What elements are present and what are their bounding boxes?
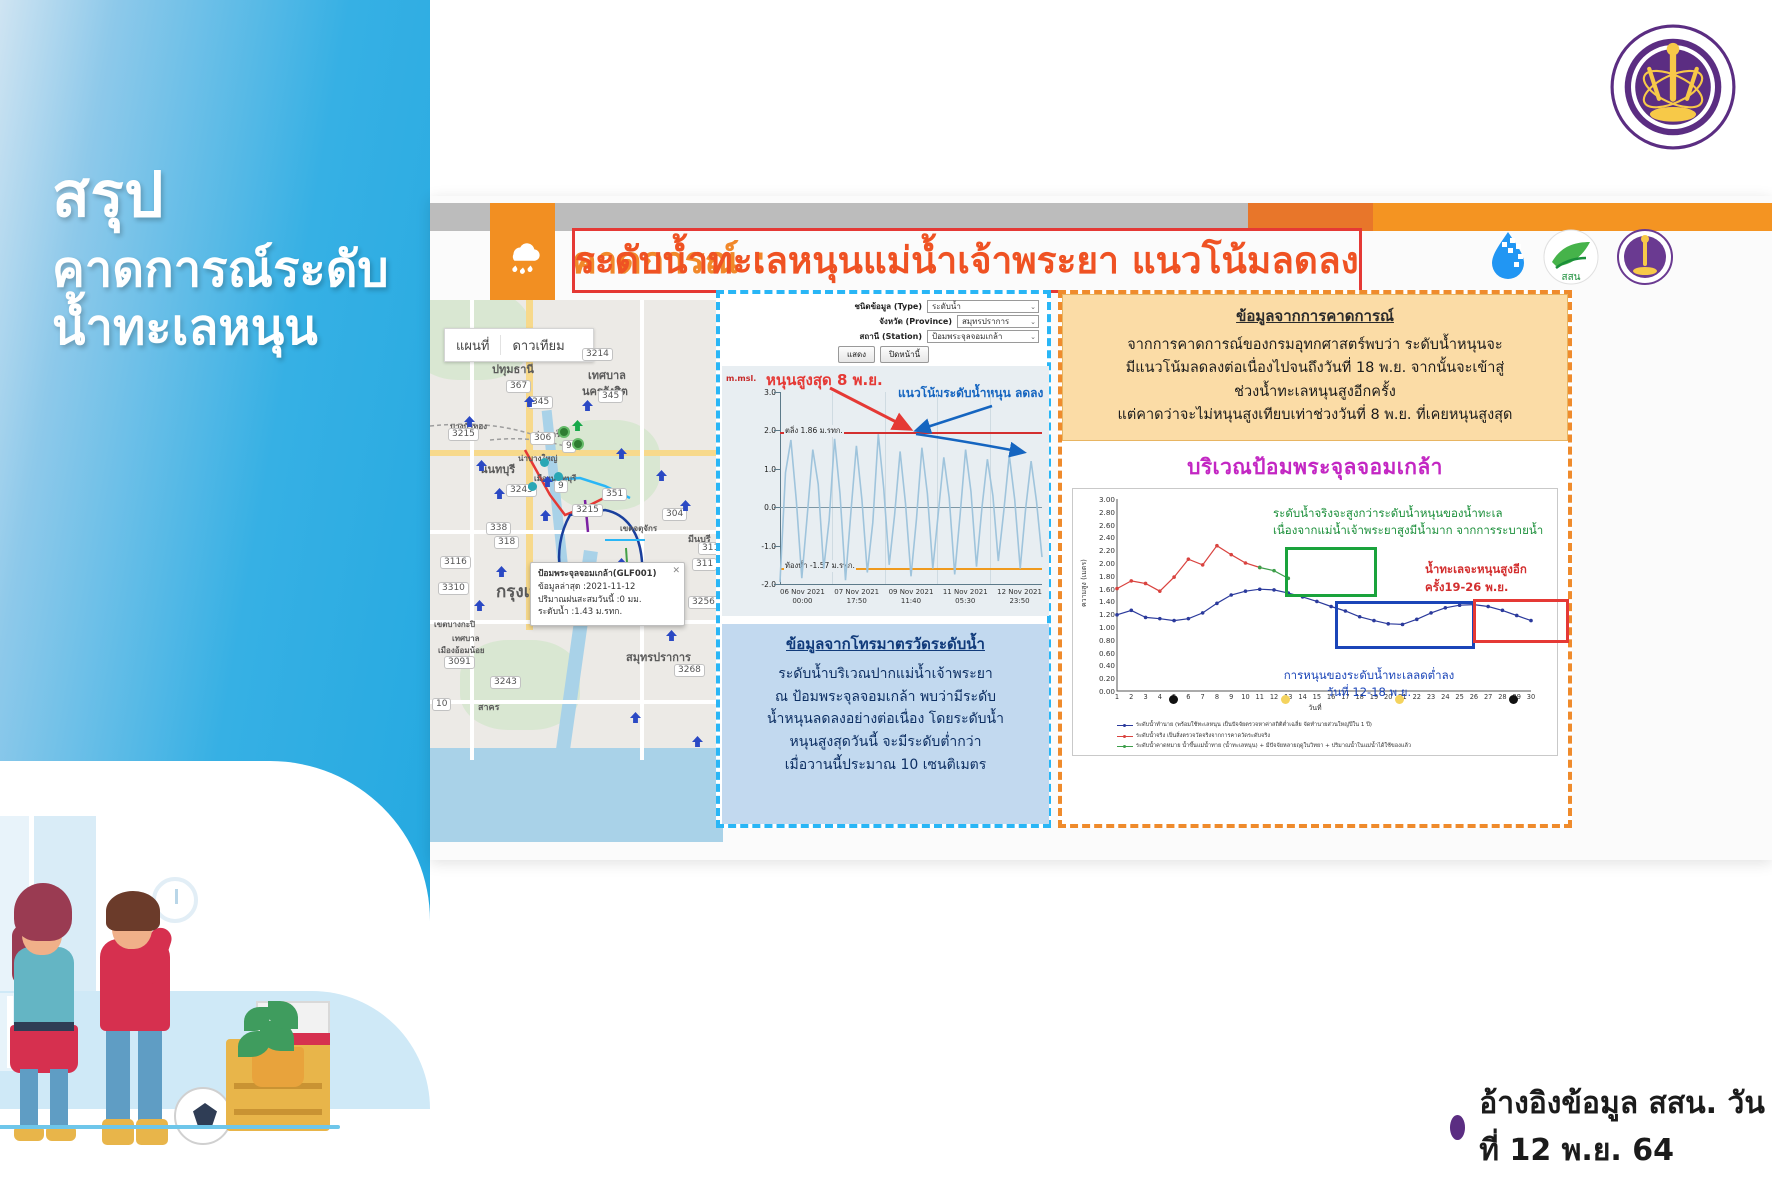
map-station-marker[interactable]	[572, 438, 584, 450]
moon-full-icon	[1395, 695, 1404, 704]
map-route-shield: 311	[692, 558, 717, 571]
cabinet-drawer-2	[234, 1109, 322, 1115]
legend-swatch	[1117, 746, 1133, 747]
close-page-button[interactable]: ปิดหน้านี้	[880, 346, 929, 363]
deck-title-line1: สรุป	[52, 158, 430, 231]
map-route-shield: 3256	[688, 596, 719, 609]
map-route-shield: 345	[598, 390, 623, 403]
source-text: อ้างอิงข้อมูล สสน. วันที่ 12 พ.ย. 64	[1479, 1080, 1772, 1174]
forecast-data-point	[1158, 617, 1162, 621]
show-button[interactable]: แสดง	[838, 346, 875, 363]
forecast-y-tick: 0.20	[1089, 674, 1115, 683]
map-station-marker[interactable]	[528, 482, 537, 491]
chart-x-tick: 11 Nov 202105:30	[943, 588, 988, 607]
telemetry-caption: ข้อมูลจากโทรมาตรวัดระดับน้ำ ระดับน้ำบริเ…	[722, 624, 1049, 824]
map-route-shield: 338	[486, 522, 511, 535]
person-a-hair	[14, 883, 72, 941]
ministry-logo-small-icon	[1616, 228, 1674, 286]
station-tooltip[interactable]: ✕ ป้อมพระจุลจอมเกล้า(GLF001) ข้อมูลล่าสุ…	[530, 562, 685, 626]
forecast-data-point	[1272, 569, 1276, 573]
forecast-y-tick: 2.40	[1089, 533, 1115, 542]
legend-swatch	[1117, 725, 1133, 726]
forecast-y-tick: 1.80	[1089, 572, 1115, 581]
person-b-boot-left	[102, 1119, 134, 1145]
hii-logo-icon: สสน	[1542, 228, 1600, 286]
bullet-icon	[1450, 1115, 1465, 1140]
forecast-x-tick: 30	[1525, 693, 1537, 701]
forecast-data-point	[1258, 587, 1262, 591]
telemetry-caption-line: หนุนสูงสุดวันนี้ จะมีระดับต่ำกว่า	[736, 731, 1035, 754]
forecast-data-point	[1115, 587, 1119, 591]
highlight-box-blue	[1335, 601, 1475, 649]
forecast-series-line-1	[1117, 546, 1260, 592]
forecast-y-tick: 2.20	[1089, 546, 1115, 555]
chart-x-tick: 12 Nov 202123:50	[997, 588, 1042, 607]
deck-title-line3: น้ำทะเลหนุน	[52, 299, 430, 357]
forecast-y-tick: 2.60	[1089, 521, 1115, 530]
person-b-boot-right	[136, 1119, 168, 1145]
forecast-panel: ข้อมูลจากการคาดการณ์ จากการคาดการณ์ของกร…	[1058, 290, 1572, 828]
moon-new-icon	[1169, 695, 1178, 704]
annotation-green-line1: ระดับน้ำจริงจะสูงกว่าระดับน้ำหนุนของน้ำท…	[1273, 505, 1553, 522]
legend-item: ระดับน้ำจริง เป็นสิ่งตรวจวัดจริงจากการคา…	[1117, 731, 1411, 742]
map-route-shield: 3268	[674, 664, 705, 677]
form-row-province: จังหวัด (Province) สมุทรปราการ ⌄	[728, 315, 1039, 328]
person-a-belt	[14, 1022, 74, 1031]
ribbon-tag	[490, 203, 555, 313]
tooltip-rainfall: ปริมาณฝนสะสมวันนี้ :0 มม.	[538, 594, 677, 607]
close-icon[interactable]: ✕	[672, 565, 680, 579]
telemetry-caption-line: ระดับน้ำบริเวณปากแม่น้ำเจ้าพระยา	[736, 663, 1035, 686]
forecast-y-tick: 3.00	[1089, 495, 1115, 504]
map-route-shield: 3116	[440, 556, 471, 569]
forecast-x-tick: 3	[1140, 693, 1152, 701]
forecast-chart-legend: ระดับน้ำทำนาย (พร้อมใช้ทะเลหนุน เป็นปัจจ…	[1117, 720, 1411, 752]
label-type: ชนิดข้อมูล (Type)	[854, 300, 922, 313]
source-footer: อ้างอิงข้อมูล สสน. วันที่ 12 พ.ย. 64	[1450, 1080, 1772, 1174]
rain-cloud-icon	[504, 237, 542, 277]
forecast-data-point	[1229, 553, 1233, 557]
label-province: จังหวัด (Province)	[879, 315, 952, 328]
illustration	[0, 761, 430, 1181]
forecast-subtitle: บริเวณป้อมพระจุลจอมเกล้า	[1062, 451, 1568, 484]
soccer-ball-icon	[174, 1087, 232, 1145]
person-a-leg-left	[20, 1069, 38, 1129]
forecast-data-point	[1172, 619, 1176, 623]
forecast-data-point	[1258, 566, 1262, 570]
forecast-x-tick: 7	[1197, 693, 1209, 701]
station-select-value: ป้อมพระจุลจอมเกล้า	[932, 330, 1002, 343]
satellite-button[interactable]: ดาวเทียม	[501, 335, 575, 356]
tooltip-waterlevel: ระดับน้ำ :1.43 ม.รทก.	[538, 606, 677, 619]
map-station-marker[interactable]	[554, 472, 563, 481]
forecast-x-tick: 6	[1182, 693, 1194, 701]
person-a-leg-right	[50, 1069, 68, 1129]
form-row-station: สถานี (Station) ป้อมพระจุลจอมเกล้า ⌄	[728, 330, 1039, 343]
person-b-leg-left	[106, 1027, 130, 1125]
type-select-value: ระดับน้ำ	[932, 300, 961, 313]
chevron-down-icon: ⌄	[1030, 333, 1036, 341]
forecast-x-tick: 8	[1211, 693, 1223, 701]
person-a-skirt	[10, 1025, 78, 1073]
forecast-y-tick: 1.20	[1089, 610, 1115, 619]
telemetry-caption-line: น้ำหนุนลดลงอย่างต่อเนื่อง โดยระดับน้ำ	[736, 708, 1035, 731]
forecast-data-point	[1129, 608, 1133, 612]
chart-x-tick-labels: 06 Nov 202100:0007 Nov 202117:5009 Nov 2…	[780, 588, 1042, 607]
forecast-y-tick: 1.40	[1089, 597, 1115, 606]
forecast-line: จากการคาดการณ์ของกรมอุทกศาสตร์พบว่า ระดั…	[1077, 334, 1553, 357]
annotation-blue-line1: การหนุนของระดับน้ำทะเลลดต่ำลง	[1269, 667, 1469, 684]
tooltip-last-update: ข้อมูลล่าสุด :2021-11-12	[538, 581, 677, 594]
forecast-data-point	[1201, 563, 1205, 567]
chevron-down-icon: ⌄	[1030, 303, 1036, 311]
map-route-shield: 3215	[572, 504, 603, 517]
ministry-seal-icon	[1610, 24, 1736, 150]
province-select[interactable]: สมุทรปราการ ⌄	[957, 315, 1039, 328]
annotation-blue: การหนุนของระดับน้ำทะเลลดต่ำลง วันที่ 12-…	[1269, 667, 1469, 700]
legend-item: ระดับน้ำคาดหมาย น้ำขึ้นแม่น้ำทาย (น้ำทะเ…	[1117, 741, 1411, 752]
telemetry-caption-line: ณ ป้อมพระจุลจอมเกล้า พบว่ามีระดับ	[736, 686, 1035, 709]
forecast-x-tick: 26	[1468, 693, 1480, 701]
annotation-red: น้ำทะเลจะหนุนสูงอีกครั้ง19-26 พ.ย.	[1425, 561, 1557, 597]
forecast-x-tick: 2	[1125, 693, 1137, 701]
map-route-shield: 3243	[490, 676, 521, 689]
station-select[interactable]: ป้อมพระจุลจอมเกล้า ⌄	[927, 330, 1039, 343]
map-route-shield: 318	[494, 536, 519, 549]
telemetry-chart: m.msl. หนุนสูงสุด 8 พ.ย. แนวโน้มระดับน้ำ…	[722, 366, 1049, 616]
map-route-shield: 351	[602, 488, 627, 501]
person-b-leg-right	[138, 1027, 162, 1125]
legend-swatch	[1117, 736, 1133, 737]
telemetry-caption-line: เมื่อวานนี้ประมาณ 10 เซนติเมตร	[736, 754, 1035, 777]
map-route-shield: 3310	[438, 582, 469, 595]
telemetry-panel: ชนิดข้อมูล (Type) ระดับน้ำ ⌄ จังหวัด (Pr…	[716, 290, 1051, 828]
province-select-value: สมุทรปราการ	[962, 315, 1009, 328]
forecast-data-point	[1144, 616, 1148, 620]
map-route-shield: 10	[432, 698, 451, 711]
forecast-y-tick: 0.80	[1089, 636, 1115, 645]
chart-annotation-arrows	[722, 366, 1049, 616]
map-button[interactable]: แผนที่	[445, 335, 500, 356]
map-route-shield: 367	[506, 380, 531, 393]
forecast-data-point	[1158, 589, 1162, 593]
forecast-line: มีแนวโน้มลดลงต่อเนื่องไปจนถึงวันที่ 18 พ…	[1077, 357, 1553, 380]
forecast-y-tick: 2.80	[1089, 508, 1115, 517]
forecast-y-tick: 2.00	[1089, 559, 1115, 568]
forecast-data-point	[1144, 582, 1148, 586]
person-a-body	[14, 947, 74, 1031]
moon-full-icon	[1281, 695, 1290, 704]
type-select[interactable]: ระดับน้ำ ⌄	[927, 300, 1039, 313]
map-route-shield: 3214	[582, 348, 613, 361]
annotation-green: ระดับน้ำจริงจะสูงกว่าระดับน้ำหนุนของน้ำท…	[1273, 505, 1553, 538]
forecast-data-point	[1244, 561, 1248, 565]
forecast-data-point	[1201, 611, 1205, 615]
form-buttons: แสดง ปิดหน้านี้	[728, 346, 1039, 363]
highlight-box-green	[1285, 547, 1377, 597]
legend-label: ระดับน้ำจริง เป็นสิ่งตรวจวัดจริงจากการคา…	[1136, 731, 1270, 742]
forecast-data-point	[1129, 579, 1133, 583]
label-station: สถานี (Station)	[859, 330, 922, 343]
page-title-main: ระดับน้ำทะเลหนุนแม่น้ำเจ้าพระยา แนวโน้มล…	[572, 228, 1362, 293]
tooltip-title: ป้อมพระจุลจอมเกล้า(GLF001)	[538, 568, 677, 581]
forecast-y-tick: 0.60	[1089, 649, 1115, 658]
map-route-shield: 306	[530, 432, 555, 445]
map-station-marker[interactable]	[540, 458, 549, 467]
forecast-data-point	[1172, 575, 1176, 579]
forecast-x-tick: 10	[1239, 693, 1251, 701]
forecast-data-point	[1115, 613, 1119, 617]
telemetry-caption-heading: ข้อมูลจากโทรมาตรวัดระดับน้ำ	[736, 632, 1035, 656]
forecast-x-tick: 9	[1225, 693, 1237, 701]
forecast-data-point	[1329, 605, 1333, 609]
svg-text:สสน: สสน	[1561, 272, 1580, 283]
forecast-y-tick: 1.00	[1089, 623, 1115, 632]
map-widget[interactable]: แผนที่ ดาวเทียม ปทุมธานีเทศบาลนครรังสิตน…	[430, 300, 723, 842]
forecast-data-point	[1187, 557, 1191, 561]
forecast-data-point	[1272, 588, 1276, 592]
forecast-data-point	[1244, 589, 1248, 593]
forecast-data-point	[1215, 544, 1219, 548]
forecast-chart: ความสูง (เมตร) 3.002.802.602.402.202.001…	[1072, 488, 1558, 756]
deck-title-line2: คาดการณ์ระดับ	[52, 241, 430, 299]
forecast-x-tick: 1	[1111, 693, 1123, 701]
forecast-line: แต่คาดว่าจะไม่หนุนสูงเทียบเท่าช่วงวันที่…	[1077, 404, 1553, 427]
forecast-heading: ข้อมูลจากการคาดการณ์	[1077, 304, 1553, 328]
legend-item: ระดับน้ำทำนาย (พร้อมใช้ทะเลหนุน เป็นปัจจ…	[1117, 720, 1411, 731]
forecast-data-point	[1229, 593, 1233, 597]
annotation-green-line2: เนื่องจากแม่น้ำเจ้าพระยาสูงมีน้ำมาก จากก…	[1273, 522, 1553, 539]
forecast-chart-xlabel: วันที่	[1073, 703, 1557, 714]
map-view-controls[interactable]: แผนที่ ดาวเทียม	[444, 328, 594, 362]
highlight-box-red	[1473, 599, 1569, 643]
map-route-shield: 3091	[444, 656, 475, 669]
slide-stage: คาดการณ์ : ระดับน้ำทะเลหนุนแม่น้ำเจ้าพระ…	[430, 0, 1772, 1181]
underline-rule	[0, 1125, 340, 1129]
forecast-x-tick: 11	[1254, 693, 1266, 701]
forecast-x-tick: 27	[1482, 693, 1494, 701]
forecast-data-point	[1215, 601, 1219, 605]
map-station-marker[interactable]	[558, 426, 570, 438]
forecast-data-point	[1315, 600, 1319, 604]
left-title-panel: สรุป คาดการณ์ระดับ น้ำทะเลหนุน	[0, 0, 430, 1181]
forecast-x-tick: 28	[1496, 693, 1508, 701]
forecast-x-tick: 4	[1154, 693, 1166, 701]
forecast-line: ช่วงน้ำทะเลหนุนสูงอีกครั้ง	[1077, 381, 1553, 404]
moon-new-icon	[1509, 695, 1518, 704]
forecast-text-box: ข้อมูลจากการคาดการณ์ จากการคาดการณ์ของกร…	[1062, 294, 1568, 441]
forecast-data-point	[1187, 617, 1191, 621]
person-b-hair	[106, 891, 160, 931]
map-route-shield: 9	[554, 480, 568, 493]
map-route-shield: 3215	[448, 428, 479, 441]
legend-label: ระดับน้ำทำนาย (พร้อมใช้ทะเลหนุน เป็นปัจจ…	[1136, 720, 1372, 731]
deck-title: สรุป คาดการณ์ระดับ น้ำทะเลหนุน	[52, 158, 430, 357]
page-title: คาดการณ์ : ระดับน้ำทะเลหนุนแม่น้ำเจ้าพระ…	[572, 230, 1572, 290]
forecast-y-tick: 0.40	[1089, 661, 1115, 670]
water-drop-pixel-icon	[1482, 228, 1534, 286]
legend-label: ระดับน้ำคาดหมาย น้ำขึ้นแม่น้ำทาย (น้ำทะเ…	[1136, 741, 1411, 752]
annotation-blue-line2: วันที่ 12-18 พ.ย.	[1269, 684, 1469, 701]
chevron-down-icon: ⌄	[1030, 318, 1036, 326]
chart-x-tick: 07 Nov 202117:50	[834, 588, 879, 607]
top-orange-bar-light	[1373, 203, 1772, 231]
chart-x-tick: 09 Nov 202111:40	[889, 588, 934, 607]
form-row-type: ชนิดข้อมูล (Type) ระดับน้ำ ⌄	[728, 300, 1039, 313]
forecast-y-tick: 1.60	[1089, 585, 1115, 594]
chart-x-tick: 06 Nov 202100:00	[780, 588, 825, 607]
